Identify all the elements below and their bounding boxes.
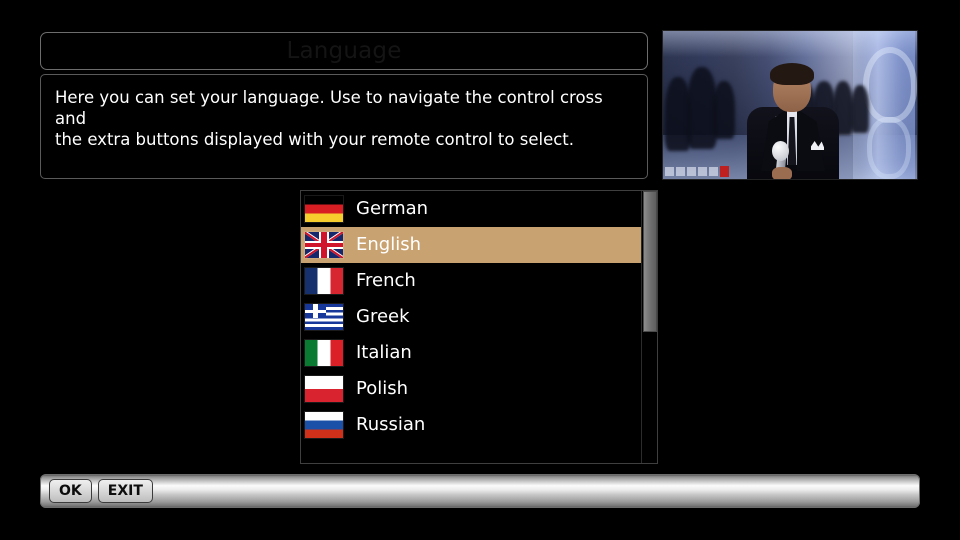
crowd-silhouette [851, 85, 869, 133]
microphone-icon [772, 141, 789, 161]
ok-button[interactable]: OK [49, 479, 92, 503]
flag-france-icon [305, 268, 343, 294]
logo-block [676, 167, 685, 176]
bottom-action-bar: OK EXIT [40, 474, 920, 508]
language-list-item[interactable]: Italian [301, 335, 642, 371]
language-list-item[interactable]: Russian [301, 407, 642, 443]
crowd-silhouette [713, 81, 735, 139]
broadcaster-logo [665, 166, 729, 177]
reporter-hand [772, 167, 792, 180]
language-list-item[interactable]: French [301, 263, 642, 299]
flag-italy-icon [305, 340, 343, 366]
language-list: GermanEnglishFrenchGreekItalianPolishRus… [301, 191, 642, 443]
flag-germany-icon [305, 196, 343, 222]
language-label: Greek [356, 308, 410, 326]
language-label: Polish [356, 380, 408, 398]
page-title: Language [286, 38, 401, 64]
language-list-panel[interactable]: GermanEnglishFrenchGreekItalianPolishRus… [300, 190, 658, 464]
language-label: Italian [356, 344, 412, 362]
language-label: Russian [356, 416, 425, 434]
logo-block [687, 167, 696, 176]
logo-block [698, 167, 707, 176]
description-box: Here you can set your language. Use to n… [40, 74, 648, 179]
title-bar: Language [40, 32, 648, 70]
language-list-item[interactable]: Greek [301, 299, 642, 335]
flag-united-kingdom-icon [305, 232, 343, 258]
description-text: Here you can set your language. Use to n… [55, 87, 633, 150]
language-label: German [356, 200, 428, 218]
flag-russia-icon [305, 412, 343, 438]
language-list-item[interactable]: English [301, 227, 642, 263]
tv-osd-screen: Language Here you can set your language.… [0, 0, 960, 540]
video-preview[interactable] [662, 30, 918, 180]
language-list-item[interactable]: German [301, 191, 642, 227]
language-label: French [356, 272, 416, 290]
flag-detail [305, 243, 343, 247]
flag-greece-icon [305, 304, 343, 330]
logo-block [709, 167, 718, 176]
logo-block-accent [720, 166, 729, 177]
language-label: English [356, 236, 421, 254]
flag-poland-icon [305, 376, 343, 402]
exit-button[interactable]: EXIT [98, 479, 153, 503]
flag-detail [305, 310, 326, 313]
logo-block [665, 167, 674, 176]
language-list-item[interactable]: Polish [301, 371, 642, 407]
scrollbar-track[interactable] [641, 191, 657, 463]
scrollbar-thumb[interactable] [643, 191, 657, 332]
reporter-hair [770, 63, 814, 85]
reporter-figure [739, 67, 847, 179]
